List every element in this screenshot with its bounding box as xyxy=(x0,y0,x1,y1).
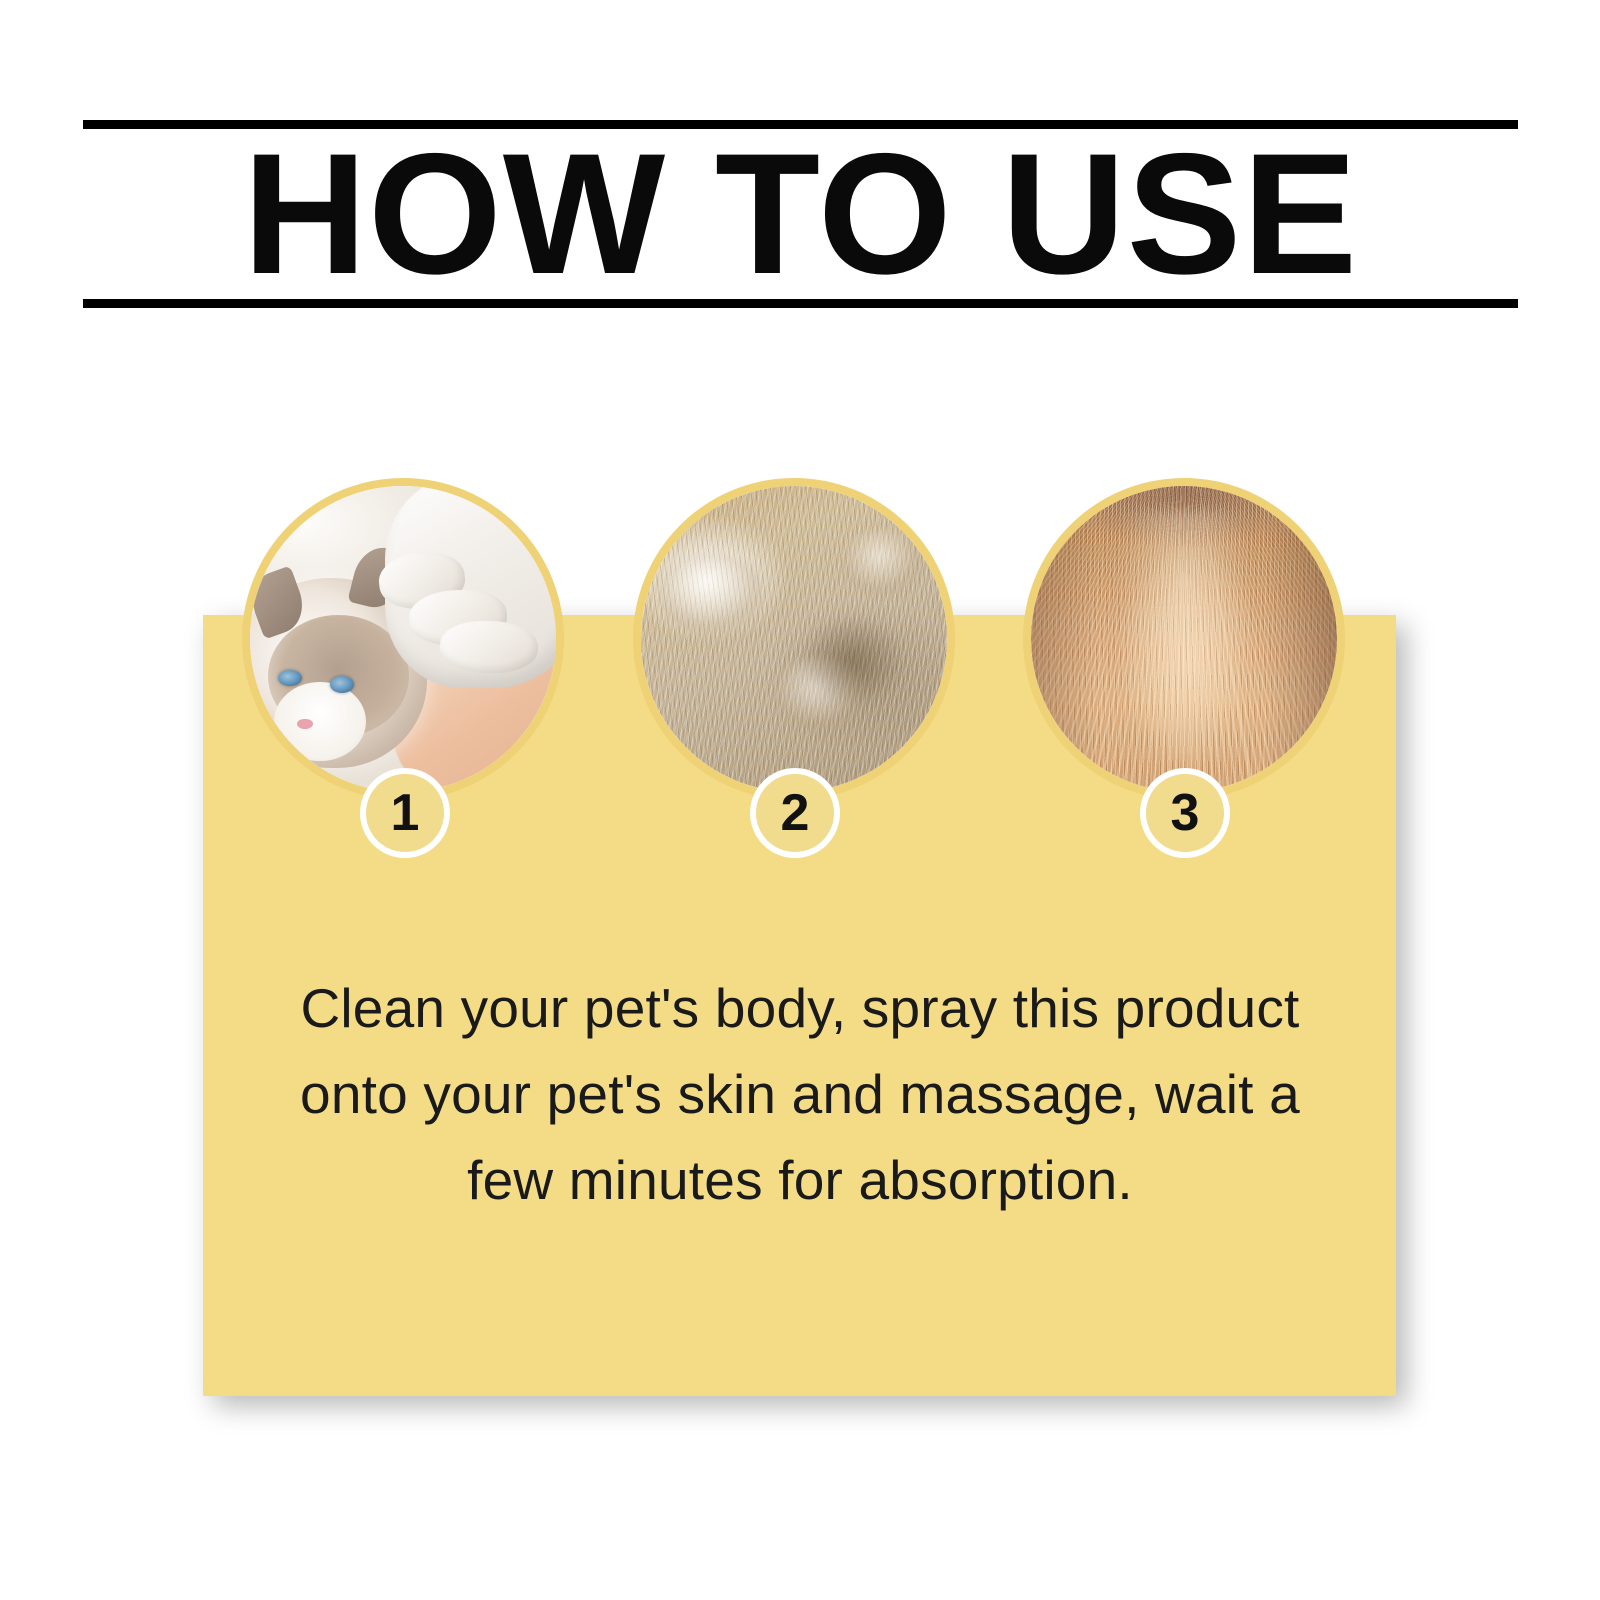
step-2-number-badge: 2 xyxy=(750,768,840,858)
step-1-photo xyxy=(242,478,564,800)
step-3 xyxy=(1023,478,1345,800)
step-3-photo xyxy=(1023,478,1345,800)
step-1 xyxy=(242,478,564,800)
page-title: HOW TO USE xyxy=(83,129,1518,299)
step-2 xyxy=(633,478,955,800)
instructions-text: Clean your pet's body, spray this produc… xyxy=(253,965,1347,1223)
step-3-number-badge: 3 xyxy=(1140,768,1230,858)
step-2-photo xyxy=(633,478,955,800)
title-rule-bottom xyxy=(83,299,1518,308)
step-1-number-badge: 1 xyxy=(360,768,450,858)
infographic-canvas: HOW TO USE xyxy=(0,0,1600,1600)
dull-matted-fur-closeup-image xyxy=(641,486,947,792)
cat-being-wiped-with-glove-image xyxy=(250,486,556,792)
header-block: HOW TO USE xyxy=(83,120,1518,308)
healthy-shiny-fur-closeup-image xyxy=(1031,486,1337,792)
